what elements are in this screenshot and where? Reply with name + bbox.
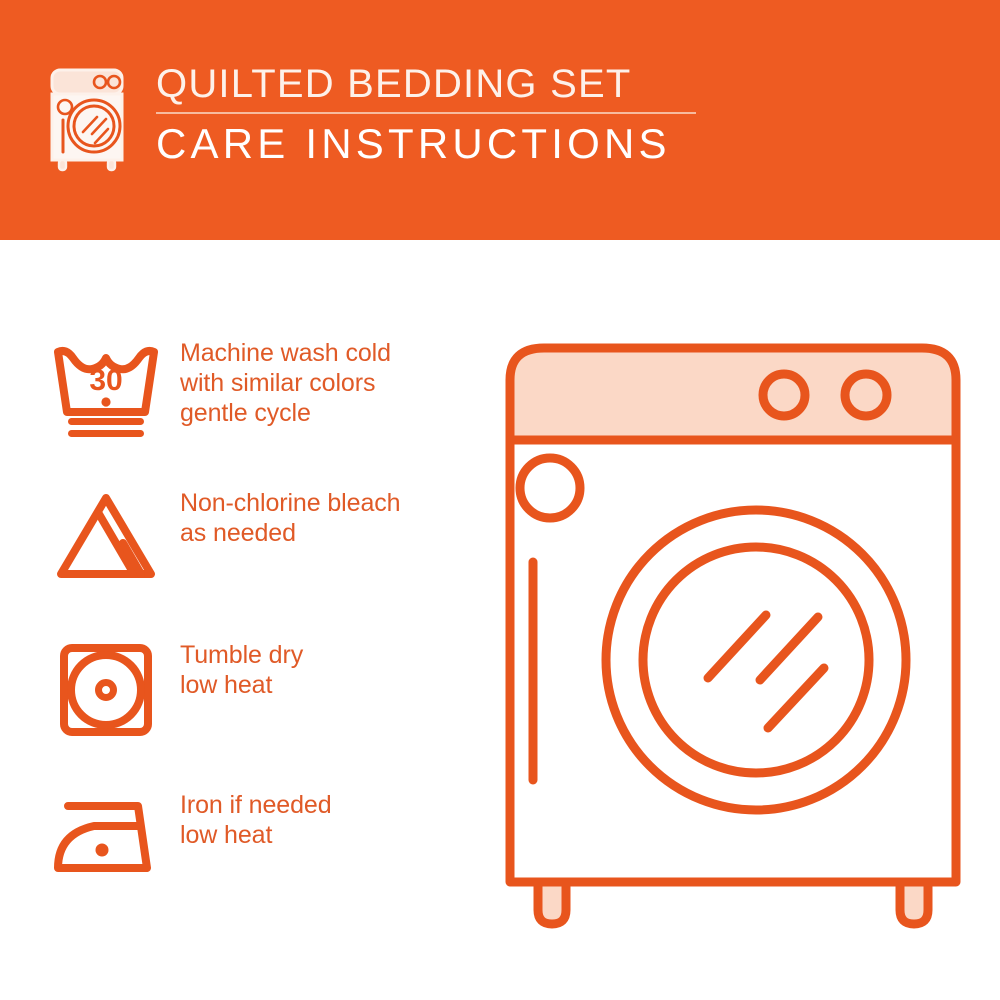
care-label-line: Iron if needed — [180, 790, 332, 820]
leg-left — [538, 882, 566, 924]
wash-temperature-label: 30 — [89, 364, 122, 397]
care-label-bleach: Non-chlorine bleach as needed — [180, 488, 400, 548]
care-label-machine-wash: Machine wash cold with similar colors ge… — [180, 338, 391, 428]
care-instructions-page: QUILTED BEDDING SET CARE INSTRUCTIONS 30… — [0, 0, 1000, 1000]
care-symbol-wrapper: 30 — [42, 338, 170, 442]
washing-machine-icon — [42, 64, 138, 174]
care-label-line: low heat — [180, 820, 332, 850]
header-content: QUILTED BEDDING SET CARE INSTRUCTIONS — [42, 62, 696, 174]
care-instruction-list: 30 Machine wash cold with similar colors… — [0, 240, 470, 1000]
care-label-line: Tumble dry — [180, 640, 303, 670]
care-row-tumble-dry: Tumble dry low heat — [42, 640, 472, 740]
care-label-iron: Iron if needed low heat — [180, 790, 332, 850]
tumble-dry-icon — [46, 640, 166, 740]
care-label-line: Machine wash cold — [180, 338, 391, 368]
iron-icon — [46, 790, 166, 886]
page-title: QUILTED BEDDING SET — [156, 62, 696, 106]
care-row-bleach: Non-chlorine bleach as needed — [42, 488, 472, 584]
bleach-triangle-icon — [46, 488, 166, 584]
header-banner: QUILTED BEDDING SET CARE INSTRUCTIONS — [0, 0, 1000, 240]
header-title-group: QUILTED BEDDING SET CARE INSTRUCTIONS — [156, 62, 696, 167]
care-label-line: low heat — [180, 670, 303, 700]
care-label-line: as needed — [180, 518, 400, 548]
care-row-iron: Iron if needed low heat — [42, 790, 472, 886]
care-label-line: Non-chlorine bleach — [180, 488, 400, 518]
washing-machine-illustration — [488, 330, 978, 930]
care-label-line: with similar colors — [180, 368, 391, 398]
care-row-machine-wash: 30 Machine wash cold with similar colors… — [42, 338, 472, 442]
title-divider — [156, 112, 696, 114]
care-symbol-wrapper — [42, 790, 170, 886]
care-symbol-wrapper — [42, 488, 170, 584]
care-label-tumble-dry: Tumble dry low heat — [180, 640, 303, 700]
care-symbol-wrapper — [42, 640, 170, 740]
wash-tub-icon: 30 — [46, 338, 166, 442]
page-subtitle: CARE INSTRUCTIONS — [156, 121, 696, 167]
leg-right — [900, 882, 928, 924]
care-label-line: gentle cycle — [180, 398, 391, 428]
